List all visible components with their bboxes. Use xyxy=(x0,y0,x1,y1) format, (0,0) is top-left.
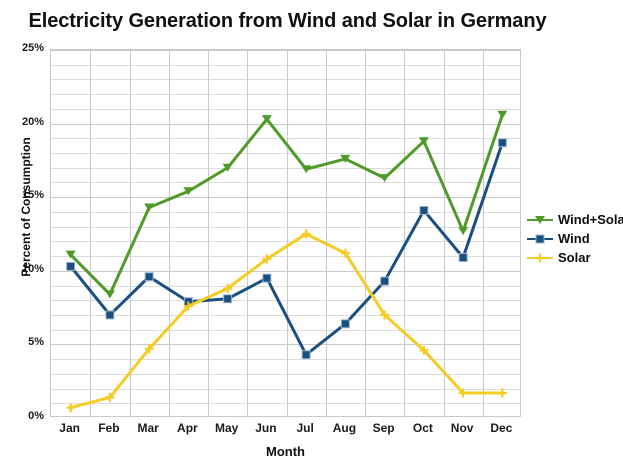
series-solar xyxy=(66,230,507,413)
series-line xyxy=(71,115,503,295)
y-axis-tick-label: 0% xyxy=(0,410,44,422)
chart-legend: Wind+SolarWindSolar xyxy=(527,211,623,268)
data-point-marker xyxy=(105,290,115,298)
legend-swatch xyxy=(527,251,553,265)
legend-marker-square-icon xyxy=(527,232,553,246)
data-point-marker xyxy=(381,277,389,285)
legend-item-solar[interactable]: Solar xyxy=(527,249,623,266)
series-wind xyxy=(67,139,507,359)
data-point-marker xyxy=(458,227,468,235)
legend-label: Wind xyxy=(558,231,590,246)
series-wind-solar xyxy=(66,111,508,299)
data-point-marker xyxy=(498,139,506,147)
y-axis-tick-label: 5% xyxy=(0,336,44,348)
data-point-marker xyxy=(67,262,75,270)
plot-area xyxy=(50,49,521,417)
data-point-marker xyxy=(498,388,507,397)
legend-swatch xyxy=(527,213,553,227)
data-point-marker xyxy=(145,273,153,281)
data-point-marker xyxy=(341,320,349,328)
data-point-marker xyxy=(224,295,232,303)
data-point-marker xyxy=(302,351,310,359)
legend-label: Solar xyxy=(558,250,591,265)
data-point-marker xyxy=(536,253,545,262)
series-line xyxy=(71,234,503,408)
x-axis-tick-label: Dec xyxy=(471,421,531,435)
data-point-marker xyxy=(497,111,507,119)
legend-marker-triangle-down-icon xyxy=(527,213,553,227)
data-point-marker xyxy=(420,206,428,214)
legend-swatch xyxy=(527,232,553,246)
data-point-marker xyxy=(535,216,545,224)
y-axis-title: Percent of Consumption xyxy=(19,97,33,317)
x-axis-title: Month xyxy=(50,444,521,459)
legend-item-wind[interactable]: Wind xyxy=(527,230,623,247)
legend-item-wind-solar[interactable]: Wind+Solar xyxy=(527,211,623,228)
series-layer xyxy=(51,50,522,418)
data-point-marker xyxy=(263,274,271,282)
legend-marker-plus-icon xyxy=(527,251,553,265)
y-axis-tick-label: 25% xyxy=(0,42,44,54)
legend-label: Wind+Solar xyxy=(558,212,623,227)
chart-container: Electricity Generation from Wind and Sol… xyxy=(0,0,623,467)
data-point-marker xyxy=(459,254,467,262)
data-point-marker xyxy=(106,311,114,319)
data-point-marker xyxy=(380,174,390,182)
chart-title: Electricity Generation from Wind and Sol… xyxy=(0,10,575,33)
data-point-marker xyxy=(536,235,544,243)
data-point-marker xyxy=(66,403,75,412)
